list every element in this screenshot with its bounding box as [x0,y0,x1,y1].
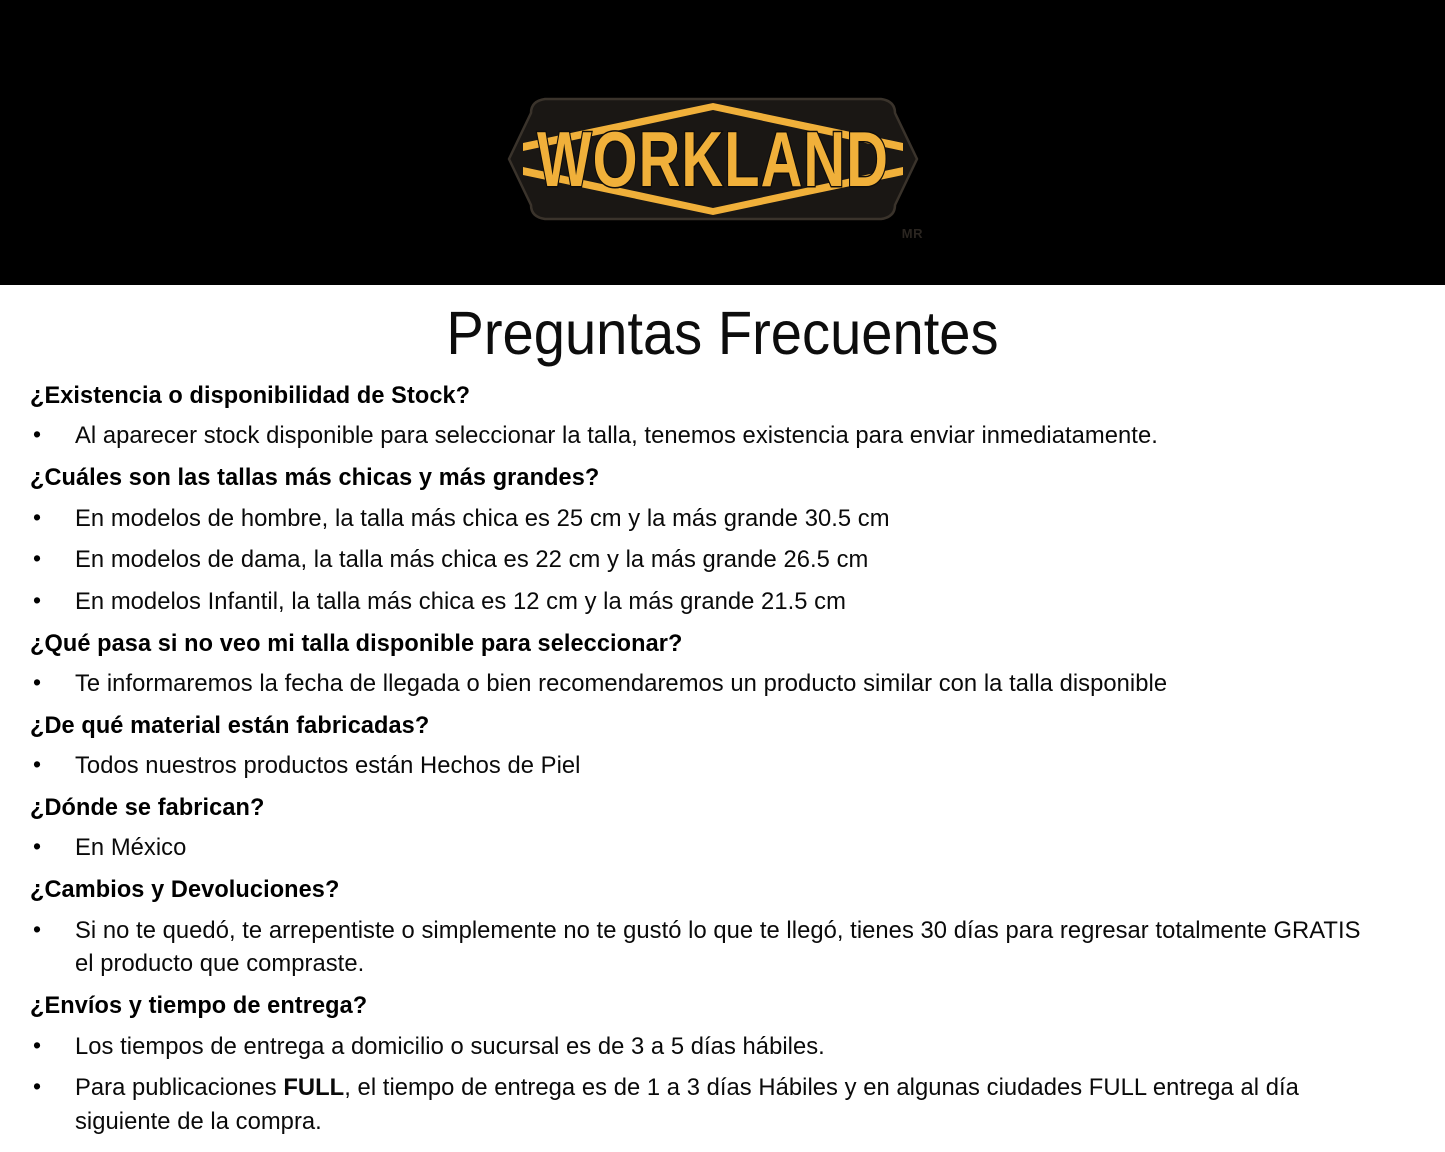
faq-answer-emphasis: FULL [283,1074,344,1101]
faq-answer-text: En México [75,831,1377,865]
faq-list: ¿Existencia o disponibilidad de Stock?•A… [0,371,1445,1143]
faq-answer-text: Los tiempos de entrega a domicilio o suc… [75,1030,1377,1064]
bullet-icon: • [30,1071,75,1103]
faq-answer-fragment: Te informaremos la fecha de llegada o bi… [75,670,1167,697]
bullet-icon: • [30,419,75,451]
faq-answer-fragment: Si no te quedó, te arrepentiste o simple… [75,917,1361,978]
faq-answer: •En México [30,827,1417,869]
faq-answer: •Si no te quedó, te arrepentiste o simpl… [30,910,1417,986]
logo-badge-graphic: WORKLAND [497,83,929,235]
faq-answer-text: En modelos de dama, la talla más chica e… [75,543,1377,577]
bullet-icon: • [30,914,75,946]
faq-answer-text: Al aparecer stock disponible para selecc… [75,419,1377,453]
bullet-icon: • [30,543,75,575]
faq-answer-text: En modelos Infantil, la talla más chica … [75,585,1377,619]
faq-answer: •En modelos Infantil, la talla más chica… [30,581,1417,623]
bullet-icon: • [30,585,75,617]
faq-answer: •Al aparecer stock disponible para selec… [30,415,1417,457]
faq-answer-fragment: Para publicaciones [75,1074,283,1101]
faq-question: ¿Dónde se fabrican? [30,787,1362,827]
logo-wordmark: WORKLAND [537,115,889,203]
faq-answer-text: Si no te quedó, te arrepentiste o simple… [75,914,1377,982]
faq-answer-text: En modelos de hombre, la talla más chica… [75,502,1377,536]
bullet-icon: • [30,502,75,534]
faq-answer-text: Para publicaciones FULL, el tiempo de en… [75,1071,1377,1139]
bullet-icon: • [30,667,75,699]
faq-answer: •Todos nuestros productos están Hechos d… [30,745,1417,787]
bullet-icon: • [30,749,75,781]
faq-answer-fragment: En modelos de dama, la talla más chica e… [75,546,868,573]
faq-answer-fragment: Todos nuestros productos están Hechos de… [75,752,581,779]
page-title: Preguntas Frecuentes [58,285,1387,371]
faq-answer: •Los tiempos de entrega a domicilio o su… [30,1026,1417,1068]
trademark-mark: MR [902,226,923,241]
bullet-icon: • [30,1030,75,1062]
faq-question: ¿Qué pasa si no veo mi talla disponible … [30,623,1362,663]
workland-logo: WORKLAND MR [497,83,929,235]
faq-answer: •Te informaremos la fecha de llegada o b… [30,663,1417,705]
bullet-icon: • [30,831,75,863]
faq-question: ¿De qué material están fabricadas? [30,705,1362,745]
faq-answer-text: Te informaremos la fecha de llegada o bi… [75,667,1377,701]
faq-question: ¿Cuáles son las tallas más chicas y más … [30,457,1362,497]
faq-answer-fragment: Los tiempos de entrega a domicilio o suc… [75,1033,825,1060]
faq-answer: •En modelos de hombre, la talla más chic… [30,498,1417,540]
faq-answer-fragment: En México [75,834,186,861]
faq-answer-fragment: En modelos de hombre, la talla más chica… [75,505,890,532]
faq-answer-fragment: En modelos Infantil, la talla más chica … [75,588,846,615]
faq-answer: •En modelos de dama, la talla más chica … [30,539,1417,581]
faq-question: ¿Cambios y Devoluciones? [30,869,1362,909]
faq-question: ¿Envíos y tiempo de entrega? [30,985,1362,1025]
brand-banner: WORKLAND MR [0,0,1445,285]
faq-answer: •Para publicaciones FULL, el tiempo de e… [30,1067,1417,1143]
faq-answer-fragment: Al aparecer stock disponible para selecc… [75,422,1158,449]
faq-answer-text: Todos nuestros productos están Hechos de… [75,749,1377,783]
faq-question: ¿Existencia o disponibilidad de Stock? [30,375,1362,415]
